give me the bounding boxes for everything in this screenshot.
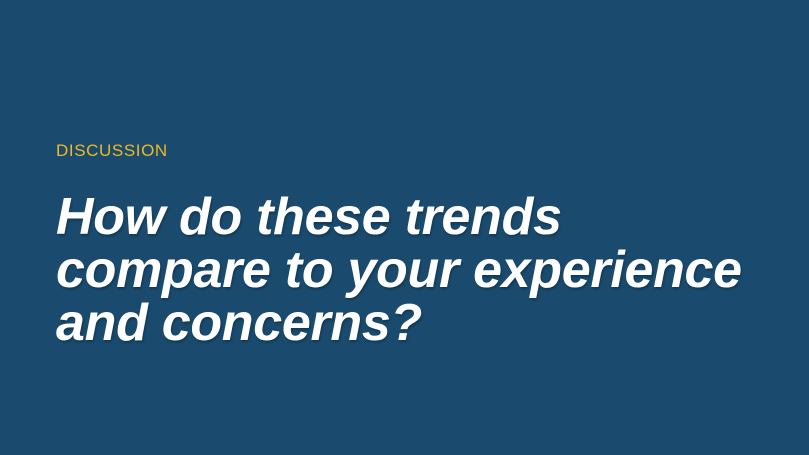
slide-headline: How do these trends compare to your expe… <box>56 191 776 350</box>
slide-content-block: DISCUSSION How do these trends compare t… <box>56 140 776 350</box>
presentation-slide: DISCUSSION How do these trends compare t… <box>0 0 809 455</box>
slide-section-label: DISCUSSION <box>56 140 776 162</box>
